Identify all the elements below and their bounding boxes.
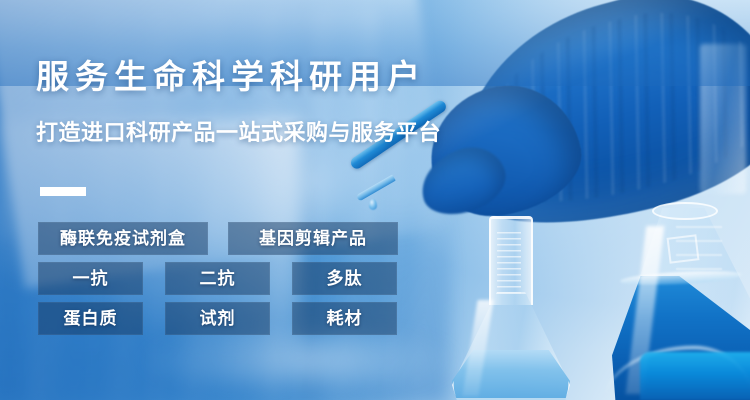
tag-spacer (143, 262, 165, 295)
tag-gene-editing-products[interactable]: 基因剪辑产品 (228, 222, 398, 255)
tag-secondary-antibody[interactable]: 二抗 (165, 262, 270, 295)
tag-row: 酶联免疫试剂盒 基因剪辑产品 (38, 222, 398, 255)
tag-spacer (143, 302, 165, 335)
tag-spacer (208, 222, 228, 255)
tag-primary-antibody[interactable]: 一抗 (38, 262, 143, 295)
banner-content: 服务生命科学科研用户 打造进口科研产品一站式采购与服务平台 酶联免疫试剂盒 基因… (0, 0, 750, 400)
title-divider (40, 187, 86, 196)
hero-banner: 服务生命科学科研用户 打造进口科研产品一站式采购与服务平台 酶联免疫试剂盒 基因… (0, 0, 750, 400)
tag-consumables[interactable]: 耗材 (292, 302, 397, 335)
tag-peptide[interactable]: 多肽 (292, 262, 397, 295)
category-tag-list: 酶联免疫试剂盒 基因剪辑产品 一抗 二抗 多肽 蛋白质 试剂 耗材 (38, 222, 398, 335)
tag-spacer (270, 302, 292, 335)
tag-row: 一抗 二抗 多肽 (38, 262, 398, 295)
tag-protein[interactable]: 蛋白质 (38, 302, 143, 335)
tag-elisa-kit[interactable]: 酶联免疫试剂盒 (38, 222, 208, 255)
page-subtitle: 打造进口科研产品一站式采购与服务平台 (36, 118, 441, 148)
page-title: 服务生命科学科研用户 (36, 56, 426, 98)
tag-reagent[interactable]: 试剂 (165, 302, 270, 335)
tag-row: 蛋白质 试剂 耗材 (38, 302, 398, 335)
tag-spacer (270, 262, 292, 295)
